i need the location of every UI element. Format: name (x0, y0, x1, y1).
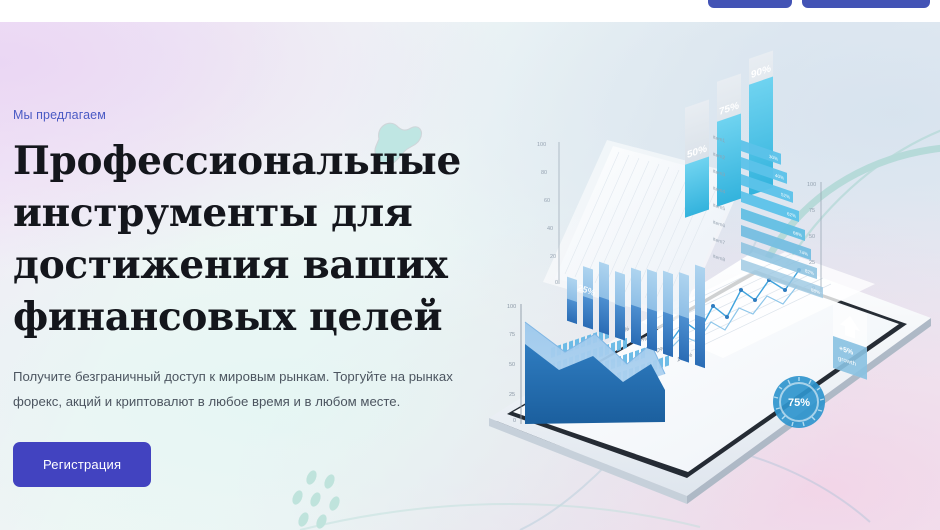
login-button[interactable]: Вход (708, 0, 792, 8)
rank-label-7: item8 (713, 253, 725, 263)
site-header: FINEX Вход Открыть счет (0, 0, 940, 22)
right-axis-label-100: 100 (807, 182, 816, 188)
bar-axis-label-20: 20 (550, 254, 556, 260)
bar-axis-label-80: 80 (541, 170, 547, 176)
right-axis-label-75: 75 (809, 208, 815, 214)
radial-gauge: 75% (773, 376, 825, 428)
area-axis-label-75: 75 (509, 332, 515, 338)
hero-copy: Мы предлагаем Профессиональные инструмен… (13, 108, 473, 487)
right-axis-label-50: 50 (809, 234, 815, 240)
gauge-label: 75% (788, 397, 810, 409)
area-axis-label-0: 0 (513, 418, 516, 424)
rank-label-6: item7 (713, 236, 725, 246)
signup-button[interactable]: Открыть счет (802, 0, 930, 8)
analytics-illustration: 30% 50% (455, 22, 940, 530)
header-actions: Вход Открыть счет (708, 0, 930, 8)
growth-card: +5% growth (833, 302, 867, 380)
percent-columns-chart: 50% 75% 90% (685, 51, 773, 218)
bar-axis-label-40: 40 (547, 226, 553, 232)
bar-axis-label-60: 60 (544, 198, 550, 204)
bar-axis-label-0: 0 (555, 280, 558, 286)
hero-eyebrow: Мы предлагаем (13, 108, 473, 122)
area-axis-label-100: 100 (507, 304, 516, 310)
bar-axis-label-100: 100 (537, 142, 546, 148)
area-axis-label-25: 25 (509, 392, 515, 398)
right-axis-label-25: 25 (809, 260, 815, 266)
registration-button[interactable]: Регистрация (13, 442, 151, 487)
hero-section: Мы предлагаем Профессиональные инструмен… (0, 22, 940, 530)
hero-description: Получите безграничный доступ к мировым р… (13, 365, 455, 414)
area-axis-label-50: 50 (509, 362, 515, 368)
hero-headline: Профессиональные инструменты для достиже… (13, 136, 453, 343)
